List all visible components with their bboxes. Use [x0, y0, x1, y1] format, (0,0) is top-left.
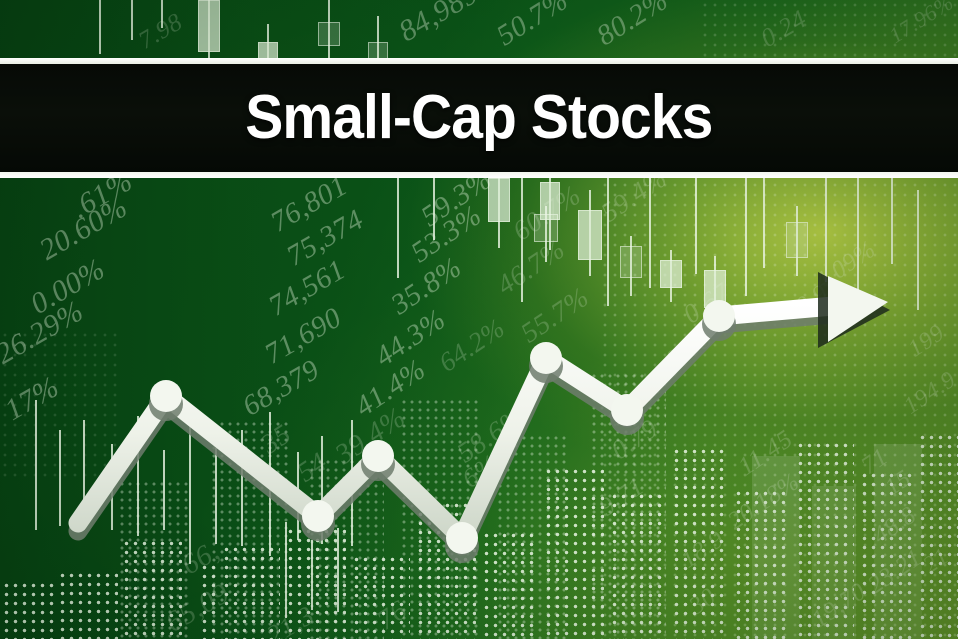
stock-banner-graphic: 84,989 50.7% 80.2% 0.24 17.96% 7.98 76,8…	[0, 0, 958, 639]
trend-line	[78, 304, 856, 538]
page-title: Small-Cap Stocks	[245, 87, 712, 149]
title-banner: Small-Cap Stocks	[0, 64, 958, 172]
banner-bottom-rule	[0, 172, 958, 178]
